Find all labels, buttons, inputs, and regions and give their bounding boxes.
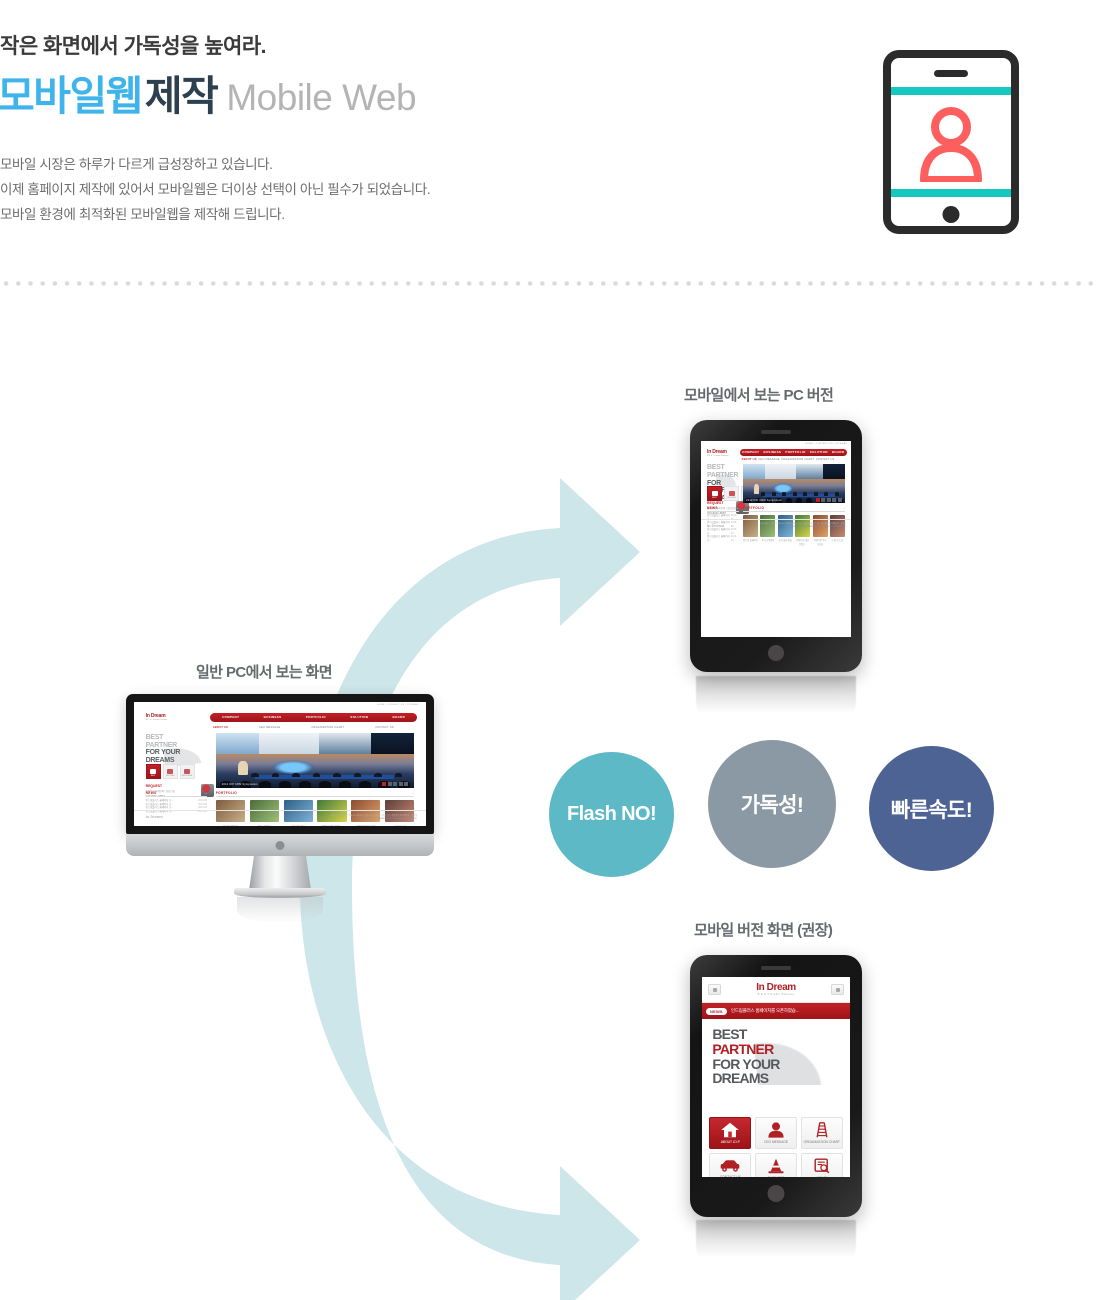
portfolio-section-header: PORTFOLIO + (216, 791, 415, 797)
tablet-quick-tile-ceo[interactable]: CEO MSG (724, 486, 739, 501)
smartphone-screen: In Dream B E S T Dream Partners NEWS 인드림… (702, 977, 850, 1177)
banner-top-row (216, 733, 415, 754)
subnav-item-organization-chart[interactable]: ORGANIZATION CHART (311, 726, 344, 729)
mobile-hero-line-1: BEST (712, 1027, 779, 1042)
mobile-menu-ceo-message[interactable]: CEO MESSAGE (755, 1117, 797, 1149)
smartphone-speaker-icon (761, 966, 791, 970)
news-section-header: NEWS + (146, 791, 207, 797)
label-pc-screen: 일반 PC에서 보는 화면 (196, 661, 332, 682)
footer-logo: In Dream (146, 814, 163, 819)
news-title: NEWS (146, 791, 157, 795)
mobile-search-button[interactable] (831, 984, 844, 995)
quick-tile-brochure-label: BROCHURE (181, 775, 194, 777)
document-icon (814, 1158, 830, 1174)
home-icon (720, 1122, 740, 1138)
device-diagram: 일반 PC에서 보는 화면 모바일에서 보는 PC 버전 모바일 버전 화면 (… (0, 300, 1100, 1300)
request-title: REQUEST (146, 784, 175, 788)
tablet-site-subnav[interactable]: ABOUT US CEO MESSAGE ORGANIZATION CHART … (742, 458, 835, 461)
person-icon (918, 106, 984, 182)
ceo-icon (729, 491, 735, 496)
pc-website-mock: HOME | CONTACT US | SITEMAP In Dream B E… (134, 702, 426, 826)
banner-caption: 2012 IDP CRM Symposium (222, 783, 258, 786)
tablet-quick-tile-best[interactable]: BEST (707, 486, 722, 501)
nav-item-solution[interactable]: SOLUTION (350, 715, 368, 719)
smartphone-frame: In Dream B E S T Dream Partners NEWS 인드림… (690, 955, 862, 1217)
header-kicker: 작은 화면에서 가독성을 높여라. (0, 30, 266, 60)
person-icon (767, 1122, 785, 1138)
nav-item-board[interactable]: BOARD (393, 715, 406, 719)
news-ticker-text: 인드림플러스 홈페이지를 오픈하였습... (731, 1008, 799, 1014)
site-logo-subtitle: B E S T Dream Partners (146, 719, 168, 721)
tablet-nav-item-portfolio[interactable]: PORTFOLIO (785, 450, 805, 454)
tablet-reflection (696, 676, 856, 720)
mobile-hero: BEST PARTNER FOR YOUR DREAMS (702, 1019, 850, 1085)
dotted-divider (0, 281, 1100, 286)
tablet-screen: HOME | CONTACT US | SITEMAP In Dream B E… (701, 441, 851, 637)
tablet-site-nav[interactable]: COMPANY BUSINESS PORTFOLIO SOLUTION BOAR… (740, 449, 847, 456)
quick-tile-ceo-label: CEO MSG (164, 775, 177, 777)
nav-item-business[interactable]: BUSINESS (264, 715, 282, 719)
monitor-reflection (237, 897, 323, 923)
banner-panel-heads (251, 773, 402, 778)
best-icon (150, 769, 156, 774)
site-quick-tiles[interactable]: BEST CEO MSG BROCHURE (146, 764, 195, 779)
mobile-site-logo[interactable]: In Dream B E S T Dream Partners (756, 983, 796, 997)
hero-line-1: BEST (146, 734, 207, 742)
footer-copyright: 서울 강남구 역삼동 708-43 아이에스빌딩 3층 | 대표자 : 김인드림… (331, 815, 418, 822)
page-title-english: Mobile Web (226, 77, 416, 118)
quick-tile-best[interactable]: BEST (146, 764, 161, 779)
tablet-home-button[interactable] (768, 645, 784, 661)
phone-outline-icon (883, 50, 1019, 234)
mobile-menu-organization-chart[interactable]: ORGANIZATION CHART (801, 1117, 843, 1149)
mobile-menu-contact-us[interactable]: CONTACT US (709, 1153, 751, 1177)
mobile-logo-text: In Dream (756, 982, 796, 993)
header-desc-line-3: 모바일 환경에 최적화된 모바일웹을 제작해 드립니다. (0, 202, 430, 227)
badge-readability[interactable]: 가독성! (708, 740, 836, 868)
nav-item-portfolio[interactable]: PORTFOLIO (306, 715, 326, 719)
tablet-banner-caption: 2012 IDP CRM Symposium (746, 499, 782, 502)
phone-speaker-icon (934, 70, 968, 77)
header-desc-line-2: 이제 홈페이지 제작에 있어서 모바일웹은 더이상 선택이 아닌 필수가 되었습… (0, 177, 430, 202)
smartphone-home-button[interactable] (768, 1185, 785, 1202)
page-title: 모바일웹제작Mobile Web (0, 62, 416, 122)
badge-flash-no[interactable]: Flash NO! (549, 752, 674, 877)
site-sub-nav[interactable]: ABOUT US CEO MESSAGE ORGANIZATION CHART … (213, 726, 394, 729)
badge-fast-speed[interactable]: 빠른속도! (869, 746, 994, 871)
monitor-screen: HOME | CONTACT US | SITEMAP In Dream B E… (134, 702, 426, 826)
quick-tile-ceo[interactable]: CEO MSG (163, 764, 178, 779)
mobile-hero-line-4: DREAMS (712, 1071, 779, 1085)
phone-top-bar (891, 87, 1011, 95)
tablet-speaker-icon (761, 430, 791, 434)
monitor-chin (126, 834, 434, 856)
phone-home-button-icon (943, 206, 960, 223)
tablet-site-logo[interactable]: In Dream B E S T Dream Partners (707, 449, 729, 457)
header-description: 모바일 시장은 하루가 다르게 급성장하고 있습니다. 이제 홈페이지 제작에 … (0, 152, 430, 227)
site-hero-banner[interactable]: 2012 IDP CRM Symposium (216, 733, 415, 788)
quick-tile-best-label: BEST (147, 775, 160, 777)
mobile-logo-subtitle: B E S T Dream Partners (756, 994, 796, 997)
tablet-nav-item-board[interactable]: BOARD (832, 450, 845, 454)
tablet-news-item[interactable]: 인드림플러스 홈페이지 오...2013-04 (707, 535, 739, 542)
desktop-monitor: HOME | CONTACT US | SITEMAP In Dream B E… (126, 694, 434, 864)
header-desc-line-1: 모바일 시장은 하루가 다르게 급성장하고 있습니다. (0, 152, 430, 177)
mobile-menu-business[interactable]: BUSINESS (755, 1153, 797, 1177)
mobile-website-mock: In Dream B E S T Dream Partners NEWS 인드림… (702, 977, 850, 1177)
tablet-nav-item-solution[interactable]: SOLUTION (810, 450, 828, 454)
mobile-menu-about-idp[interactable]: ABOUT I.D.P (709, 1117, 751, 1149)
portfolio-more-button[interactable]: + (413, 791, 415, 795)
mobile-menu-button[interactable] (708, 984, 721, 995)
mobile-news-ticker[interactable]: NEWS 인드림플러스 홈페이지를 오픈하였습... (702, 1003, 850, 1019)
label-mobile-screen: 모바일 버전 화면 (권장) (694, 919, 832, 940)
tablet-banner-pagination[interactable] (816, 498, 842, 502)
tablet-nav-item-business[interactable]: BUSINESS (763, 450, 781, 454)
tablet-nav-item-company[interactable]: COMPANY (742, 450, 759, 454)
mobile-menu-grid: ABOUT I.D.P CEO MESSAGE (709, 1117, 842, 1177)
monitor-stand-neck (249, 856, 311, 890)
tablet-device: HOME | CONTACT US | SITEMAP In Dream B E… (690, 420, 862, 672)
site-hero-text: BEST PARTNER FOR YOUR DREAMS (146, 734, 207, 759)
tablet-website-mock: HOME | CONTACT US | SITEMAP In Dream B E… (701, 441, 851, 531)
news-more-button[interactable]: + (205, 791, 207, 795)
site-logo[interactable]: In Dream B E S T Dream Partners (146, 713, 168, 721)
car-icon (719, 1159, 741, 1173)
mobile-menu-news[interactable]: NEWS (801, 1153, 843, 1177)
smartphone-reflection (696, 1220, 856, 1264)
site-footer: In Dream 서울 강남구 역삼동 708-43 아이에스빌딩 3층 | 대… (134, 810, 426, 826)
hero-line-2: PARTNER (146, 742, 207, 750)
tablet-hero-text: BEST PARTNER FOR YOUR DREAMS (707, 464, 739, 482)
best-icon (712, 491, 718, 496)
mobile-hero-line-3: FOR YOUR (712, 1057, 779, 1072)
tablet-frame: HOME | CONTACT US | SITEMAP In Dream B E… (690, 420, 862, 672)
cone-icon (767, 1158, 785, 1174)
hero-line-3: FOR YOUR (146, 749, 207, 757)
ceo-icon (167, 769, 173, 774)
page-title-secondary: 제작 (145, 73, 217, 119)
subnav-item-ceo-message[interactable]: CEO MESSAGE (259, 726, 280, 729)
monitor-logo-dot (276, 841, 285, 850)
smartphone-device: In Dream B E S T Dream Partners NEWS 인드림… (690, 955, 862, 1217)
banner-speaker (238, 761, 248, 775)
banner-pagination[interactable] (382, 782, 408, 786)
tablet-hero-banner[interactable]: 2012 IDP CRM Symposium (743, 464, 845, 504)
brochure-icon (184, 769, 190, 774)
ladder-icon (815, 1122, 829, 1138)
site-toplinks[interactable]: HOME | CONTACT US | SITEMAP (377, 704, 419, 706)
quick-tile-brochure[interactable]: BROCHURE (180, 764, 195, 779)
tablet-site-toplinks[interactable]: HOME | CONTACT US | SITEMAP (806, 443, 848, 445)
mobile-hero-line-2: PARTNER (712, 1042, 779, 1057)
nav-item-company[interactable]: COMPANY (222, 715, 239, 719)
arrow-to-mobile (300, 885, 640, 1300)
site-main-nav[interactable]: COMPANY BUSINESS PORTFOLIO SOLUTION BOAR… (210, 713, 417, 723)
page-header: 작은 화면에서 가독성을 높여라. 모바일웹제작Mobile Web 모바일 시… (0, 0, 1100, 280)
portfolio-title: PORTFOLIO (216, 791, 237, 795)
label-tablet-screen: 모바일에서 보는 PC 버전 (684, 384, 833, 405)
mobile-site-header: In Dream B E S T Dream Partners (702, 977, 850, 1003)
subnav-item-contact-us[interactable]: CONTACT US (375, 726, 394, 729)
mobile-user-icon (883, 50, 1019, 234)
mobile-web-page: 작은 화면에서 가독성을 높여라. 모바일웹제작Mobile Web 모바일 시… (0, 0, 1100, 1300)
page-title-primary: 모바일웹 (0, 73, 142, 119)
tablet-site-footer: In Dream 서울 강남구 역삼동 708-43 아이에스빌딩 3층 | 대… (701, 519, 851, 531)
news-badge: NEWS (706, 1008, 727, 1015)
phone-bottom-bar (891, 189, 1011, 197)
mobile-hero-text: BEST PARTNER FOR YOUR DREAMS (712, 1027, 779, 1085)
monitor-bezel: HOME | CONTACT US | SITEMAP In Dream B E… (126, 694, 434, 834)
